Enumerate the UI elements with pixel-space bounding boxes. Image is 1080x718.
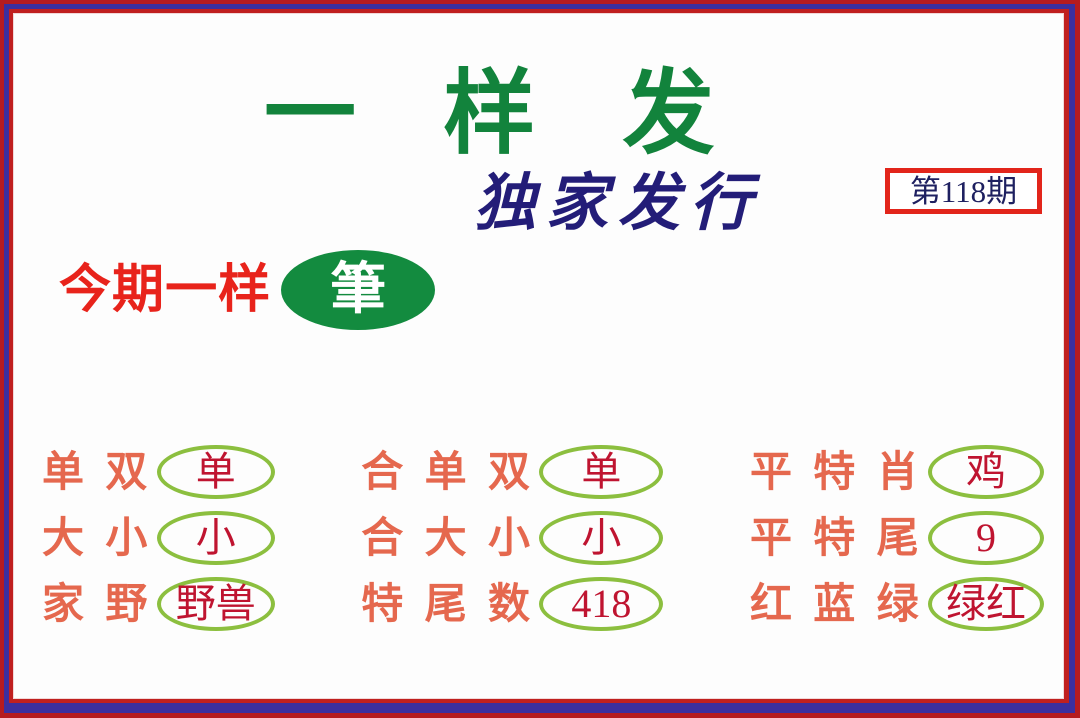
result-label: 平 特 肖: [750, 451, 922, 493]
page-title: 一 样 发: [264, 68, 742, 160]
issue-badge: 第118期: [885, 168, 1042, 214]
result-value-oval: 9: [928, 511, 1044, 565]
result-row: 家 野 野兽: [42, 578, 275, 630]
result-value: 绿红: [946, 584, 1026, 624]
result-value-oval: 小: [539, 511, 663, 565]
result-value: 野兽: [176, 584, 256, 624]
result-label: 特 尾 数: [361, 583, 533, 625]
result-row: 大 小 小: [42, 512, 275, 564]
result-label: 合 大 小: [361, 517, 533, 559]
result-value-oval: 绿红: [928, 577, 1044, 631]
highlight-pill: 筆: [281, 250, 435, 330]
result-value: 鸡: [966, 452, 1006, 492]
result-value: 小: [581, 518, 621, 558]
result-value: 418: [571, 584, 631, 624]
result-value: 单: [196, 452, 236, 492]
result-row: 特 尾 数 418: [361, 578, 663, 630]
result-value-oval: 野兽: [157, 577, 275, 631]
result-label: 平 特 尾: [750, 517, 922, 559]
results-column-left: 单 双 单 大 小 小 家 野 野兽: [42, 446, 275, 630]
result-label: 合 单 双: [361, 451, 533, 493]
poster-root: 一 样 发 独家发行 第118期 今期一样 筆 单 双 单 大 小: [0, 0, 1080, 718]
result-value-oval: 单: [539, 445, 663, 499]
result-row: 合 单 双 单: [361, 446, 663, 498]
result-value-oval: 鸡: [928, 445, 1044, 499]
highlight-value: 筆: [330, 262, 386, 318]
results-column-middle: 合 单 双 单 合 大 小 小 特 尾 数 418: [361, 446, 663, 630]
result-value-oval: 418: [539, 577, 663, 631]
result-row: 单 双 单: [42, 446, 275, 498]
result-label: 红 蓝 绿: [750, 583, 922, 625]
result-value-oval: 单: [157, 445, 275, 499]
result-value: 小: [196, 518, 236, 558]
result-value: 单: [581, 452, 621, 492]
result-row: 平 特 肖 鸡: [750, 446, 1044, 498]
result-value-oval: 小: [157, 511, 275, 565]
issue-badge-label: 第118期: [910, 176, 1017, 207]
result-label: 大 小: [42, 517, 151, 559]
result-row: 合 大 小 小: [361, 512, 663, 564]
result-label: 单 双: [42, 451, 151, 493]
result-label: 家 野: [42, 583, 151, 625]
results-grid: 单 双 单 大 小 小 家 野 野兽: [42, 446, 1044, 630]
highlight-row: 今期一样 筆: [59, 250, 435, 330]
page-subtitle: 独家发行: [474, 172, 762, 234]
poster-canvas: 一 样 发 独家发行 第118期 今期一样 筆 单 双 单 大 小: [14, 14, 1063, 698]
results-column-right: 平 特 肖 鸡 平 特 尾 9 红 蓝 绿 绿红: [750, 446, 1044, 630]
result-row: 平 特 尾 9: [750, 512, 1044, 564]
highlight-label: 今期一样: [59, 264, 271, 316]
result-row: 红 蓝 绿 绿红: [750, 578, 1044, 630]
result-value: 9: [976, 518, 996, 558]
